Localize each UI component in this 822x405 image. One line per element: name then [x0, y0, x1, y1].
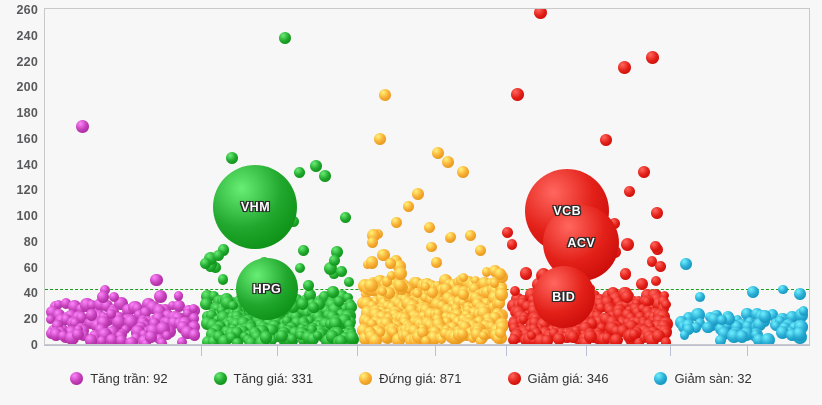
bubble[interactable] [610, 334, 623, 345]
legend-label: Tăng giá: 331 [234, 371, 314, 386]
bubble[interactable] [313, 331, 322, 340]
x-tick [357, 345, 358, 356]
y-tick-label: 140 [17, 158, 38, 171]
bubble[interactable] [424, 222, 435, 233]
bubble[interactable] [340, 212, 351, 223]
bubble[interactable] [650, 241, 661, 252]
bubble[interactable] [736, 330, 749, 343]
bubble[interactable] [661, 337, 672, 345]
bubble-layer [45, 9, 809, 344]
bubble[interactable] [334, 296, 344, 306]
x-tick [670, 345, 671, 356]
legend-label: Giảm giá: 346 [528, 371, 609, 386]
y-tick-label: 200 [17, 81, 38, 94]
bubble[interactable] [303, 280, 314, 291]
bubble[interactable] [475, 245, 486, 256]
bubble[interactable] [157, 338, 168, 345]
legend-giam-gia[interactable]: Giảm giá: 346 [508, 371, 609, 386]
bubble[interactable] [621, 238, 634, 251]
bubble[interactable] [680, 258, 692, 270]
bubble[interactable] [527, 331, 536, 340]
bubble[interactable] [651, 276, 661, 286]
bubble[interactable] [431, 257, 442, 268]
bubble[interactable] [600, 134, 612, 146]
bubble[interactable] [276, 330, 288, 342]
bubble[interactable] [502, 227, 513, 238]
bubble[interactable] [174, 291, 184, 301]
legend-marker-icon [214, 372, 227, 385]
bubble[interactable] [298, 245, 309, 256]
y-tick-label: 220 [17, 55, 38, 68]
bubble[interactable] [426, 242, 437, 253]
bubble[interactable] [761, 333, 775, 345]
legend-label: Đứng giá: 871 [379, 371, 461, 386]
bubble[interactable] [367, 237, 378, 248]
bubble[interactable] [553, 333, 565, 345]
bubble[interactable] [213, 165, 297, 249]
y-tick-label: 160 [17, 133, 38, 146]
bubble[interactable] [150, 274, 163, 287]
plot-area: VHMHPGVCBACVBID [44, 8, 810, 345]
bubble[interactable] [226, 152, 238, 164]
bubble[interactable] [385, 258, 395, 268]
bubble[interactable] [541, 335, 553, 345]
bubble[interactable] [778, 285, 788, 295]
y-tick-label: 80 [24, 236, 38, 249]
legend-marker-icon [654, 372, 667, 385]
x-tick [435, 345, 436, 356]
bubble[interactable] [364, 279, 377, 292]
bubble[interactable] [294, 167, 305, 178]
bubble[interactable] [218, 274, 228, 284]
bubble[interactable] [799, 306, 809, 316]
y-tick-label: 40 [24, 287, 38, 300]
bubble[interactable] [702, 322, 714, 334]
bubble[interactable] [366, 256, 378, 268]
legend: Tăng trần: 92Tăng giá: 331Đứng giá: 871G… [0, 363, 822, 393]
x-tick [506, 345, 507, 356]
bubble[interactable] [279, 32, 291, 44]
bubble[interactable] [97, 291, 109, 303]
y-tick-label: 260 [17, 4, 38, 17]
bubble[interactable] [260, 331, 273, 344]
legend-tang-tran[interactable]: Tăng trần: 92 [70, 371, 167, 386]
y-tick-label: 180 [17, 107, 38, 120]
bubble[interactable] [490, 278, 499, 287]
bubble[interactable] [308, 302, 319, 313]
bubble[interactable] [507, 239, 518, 250]
y-tick-label: 100 [17, 210, 38, 223]
legend-label: Giảm sàn: 32 [674, 371, 751, 386]
bubble[interactable] [295, 263, 305, 273]
bubble[interactable] [329, 255, 340, 266]
x-tick [747, 345, 748, 356]
bubble[interactable] [621, 291, 633, 303]
x-tick [201, 345, 202, 356]
bubble[interactable] [106, 309, 115, 318]
legend-label: Tăng trần: 92 [90, 371, 167, 386]
bubble[interactable] [661, 300, 670, 309]
bubble[interactable] [391, 217, 402, 228]
y-tick-label: 0 [31, 339, 38, 352]
legend-tang-gia[interactable]: Tăng giá: 331 [214, 371, 314, 386]
bubble[interactable] [715, 335, 726, 345]
legend-marker-icon [508, 372, 521, 385]
legend-marker-icon [359, 372, 372, 385]
bubble[interactable] [794, 288, 806, 300]
bubble[interactable] [655, 261, 666, 272]
bubble[interactable] [624, 186, 635, 197]
bubble[interactable] [457, 329, 468, 340]
bubble[interactable] [403, 201, 414, 212]
bubble[interactable] [618, 61, 631, 74]
bubble-chart: 020406080100120140160180200220240260 VHM… [0, 0, 822, 405]
bubble[interactable] [651, 207, 663, 219]
bubble[interactable] [646, 51, 659, 64]
bubble[interactable] [533, 266, 595, 328]
bubble[interactable] [236, 258, 298, 320]
bubble[interactable] [638, 166, 650, 178]
y-axis: 020406080100120140160180200220240260 [0, 0, 44, 355]
bubble[interactable] [680, 330, 690, 340]
bubble[interactable] [344, 277, 354, 287]
bubble[interactable] [520, 267, 533, 280]
bubble[interactable] [465, 230, 476, 241]
bubble[interactable] [584, 330, 597, 343]
bubble[interactable] [793, 327, 806, 340]
bubble[interactable] [747, 286, 759, 298]
bubble[interactable] [412, 188, 424, 200]
y-tick-label: 60 [24, 261, 38, 274]
bubble[interactable] [346, 331, 359, 344]
bubble[interactable] [310, 160, 322, 172]
bubble[interactable] [76, 120, 89, 133]
bubble[interactable] [378, 287, 387, 296]
bubble[interactable] [72, 329, 83, 340]
bubble[interactable] [636, 278, 648, 290]
legend-giam-san[interactable]: Giảm sàn: 32 [654, 371, 751, 386]
x-axis [44, 345, 810, 357]
bubble[interactable] [534, 8, 547, 19]
bubble[interactable] [85, 334, 97, 345]
bubble[interactable] [620, 268, 632, 280]
bubble[interactable] [495, 288, 508, 301]
bubble[interactable] [154, 290, 167, 303]
bubble[interactable] [145, 331, 157, 343]
bubble[interactable] [457, 166, 469, 178]
bubble[interactable] [125, 337, 137, 345]
bubble[interactable] [189, 329, 200, 340]
bubble[interactable] [446, 232, 456, 242]
x-axis-line [44, 345, 810, 346]
bubble[interactable] [759, 310, 771, 322]
y-tick-label: 240 [17, 30, 38, 43]
y-tick-label: 120 [17, 184, 38, 197]
bubble[interactable] [642, 297, 652, 307]
bubble[interactable] [442, 156, 454, 168]
bubble[interactable] [336, 266, 347, 277]
bubble[interactable] [511, 88, 524, 101]
bubble[interactable] [695, 292, 705, 302]
bubble[interactable] [228, 301, 237, 310]
bubble[interactable] [177, 337, 187, 345]
bubble[interactable] [495, 328, 506, 339]
bubble[interactable] [213, 250, 224, 261]
legend-marker-icon [70, 372, 83, 385]
bubble[interactable] [379, 89, 391, 101]
bubble[interactable] [421, 336, 432, 345]
x-tick [586, 345, 587, 356]
bubble[interactable] [319, 170, 331, 182]
bubble[interactable] [86, 309, 97, 320]
legend-dung-gia[interactable]: Đứng giá: 871 [359, 371, 461, 386]
y-tick-label: 20 [24, 313, 38, 326]
x-tick [277, 345, 278, 356]
bubble[interactable] [374, 133, 386, 145]
bubble[interactable] [509, 334, 519, 344]
bubble[interactable] [432, 147, 444, 159]
